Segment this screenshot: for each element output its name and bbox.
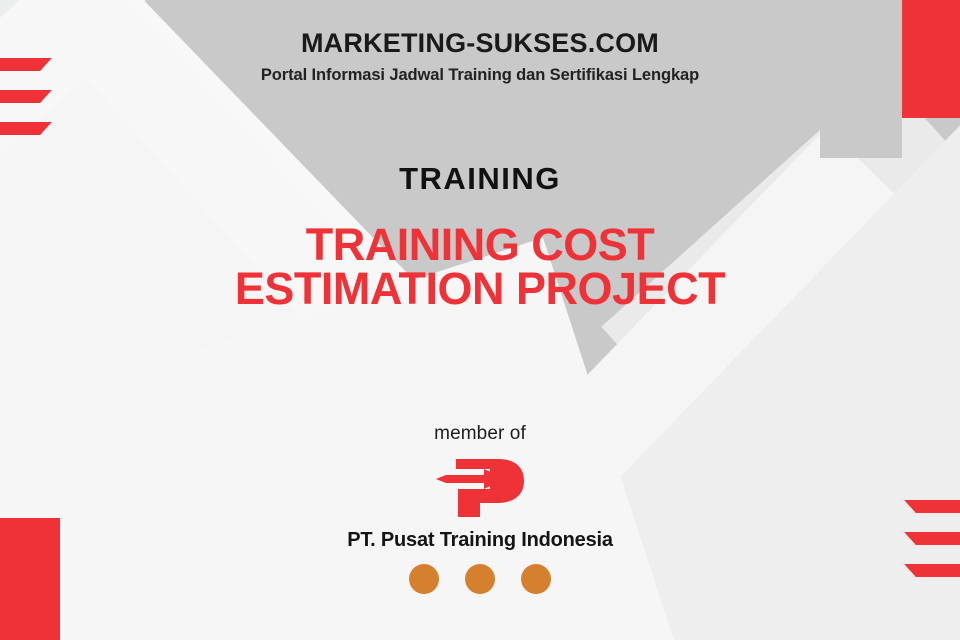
pti-logo [428,455,532,521]
banner-headline: TRAINING COST ESTIMATION PROJECT [235,223,725,311]
headline-line-2: ESTIMATION PROJECT [235,267,725,311]
p-arrow-logo-icon [428,455,532,521]
company-name: PT. Pusat Training Indonesia [347,529,613,552]
site-name: MARKETING-SUKSES.COM [301,28,659,59]
dot-2 [465,564,495,594]
headline-line-1: TRAINING COST [235,223,725,267]
training-promo-banner: MARKETING-SUKSES.COM Portal Informasi Ja… [0,0,960,640]
site-tagline: Portal Informasi Jadwal Training dan Ser… [261,66,699,85]
dot-3 [521,564,551,594]
member-of-label: member of [434,423,526,445]
banner-content: MARKETING-SUKSES.COM Portal Informasi Ja… [0,0,960,640]
dot-1 [409,564,439,594]
banner-kicker: TRAINING [399,161,561,197]
decorative-dots [409,564,551,594]
